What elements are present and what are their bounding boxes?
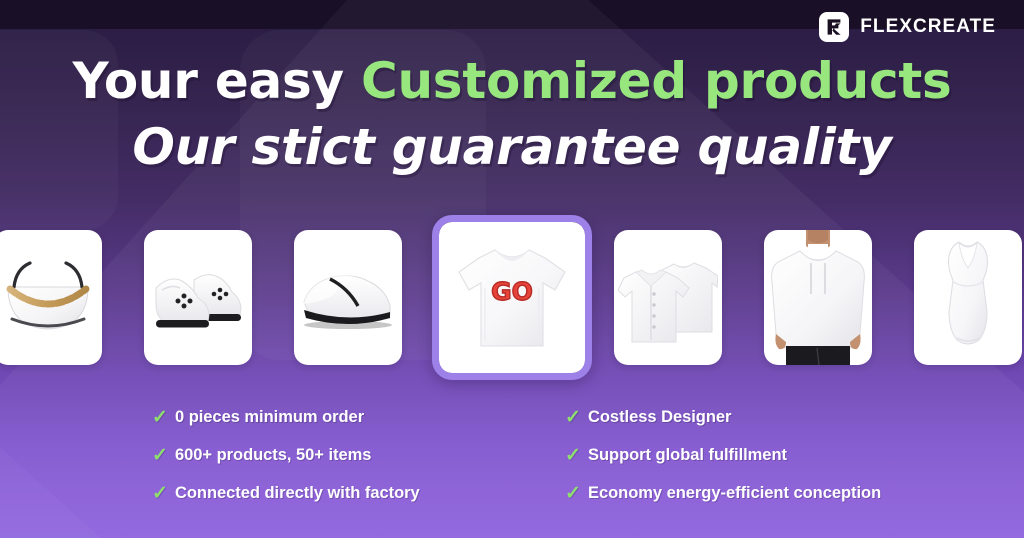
product-carousel[interactable]: GO	[0, 215, 1024, 380]
check-icon: ✓	[152, 484, 165, 503]
check-icon: ✓	[152, 446, 165, 465]
product-card-slip-on-shoe[interactable]	[294, 230, 402, 365]
product-card-sneakers[interactable]	[144, 230, 252, 365]
feature-label: Connected directly with factory	[175, 484, 420, 503]
feature-column-right: ✓ Costless Designer ✓ Support global ful…	[565, 398, 881, 512]
check-icon: ✓	[565, 484, 578, 503]
headline-line-2: Our stict guarantee quality	[0, 122, 1024, 172]
feature-label: 600+ products, 50+ items	[175, 446, 371, 465]
tshirt-print-text: GO	[491, 277, 533, 306]
brand-logo[interactable]: FLEXCREATE	[819, 12, 996, 42]
product-card-bodysuit[interactable]	[914, 230, 1022, 365]
product-card-hoodie[interactable]	[764, 230, 872, 365]
feature-item: ✓ 0 pieces minimum order	[152, 398, 420, 436]
handbag-icon	[0, 243, 96, 353]
headline-block: Your easy Customized products Our stict …	[0, 56, 1024, 172]
product-card-button-shirt[interactable]	[614, 230, 722, 365]
tshirt-icon: GO	[449, 238, 575, 358]
feature-item: ✓ Support global fulfillment	[565, 436, 881, 474]
headline-line-1: Your easy Customized products	[0, 56, 1024, 106]
feature-label: Support global fulfillment	[588, 446, 787, 465]
hoodie-icon	[764, 230, 872, 365]
check-icon: ✓	[565, 446, 578, 465]
product-card-handbag[interactable]	[0, 230, 102, 365]
check-icon: ✓	[152, 408, 165, 427]
brand-name: FLEXCREATE	[860, 16, 996, 38]
bodysuit-icon	[929, 238, 1007, 358]
feature-item: ✓ Connected directly with factory	[152, 474, 420, 512]
feature-column-left: ✓ 0 pieces minimum order ✓ 600+ products…	[152, 398, 420, 512]
feature-item: ✓ Economy energy-efficient conception	[565, 474, 881, 512]
promo-banner: FLEXCREATE Your easy Customized products…	[0, 0, 1024, 538]
headline-line1-plain: Your easy	[72, 52, 361, 110]
feature-label: 0 pieces minimum order	[175, 408, 364, 427]
feature-label: Economy energy-efficient conception	[588, 484, 881, 503]
slip-on-shoe-icon	[300, 262, 396, 334]
flexcreate-k-mark-icon	[819, 12, 849, 42]
feature-item: ✓ Costless Designer	[565, 398, 881, 436]
headline-line1-accent: Customized products	[361, 52, 952, 110]
product-card-tshirt-selected[interactable]: GO	[432, 215, 592, 380]
button-shirt-icon	[618, 246, 718, 350]
card-inner: GO	[439, 222, 585, 373]
check-icon: ✓	[565, 408, 578, 427]
feature-label: Costless Designer	[588, 408, 731, 427]
sneakers-icon	[150, 254, 246, 342]
feature-item: ✓ 600+ products, 50+ items	[152, 436, 420, 474]
